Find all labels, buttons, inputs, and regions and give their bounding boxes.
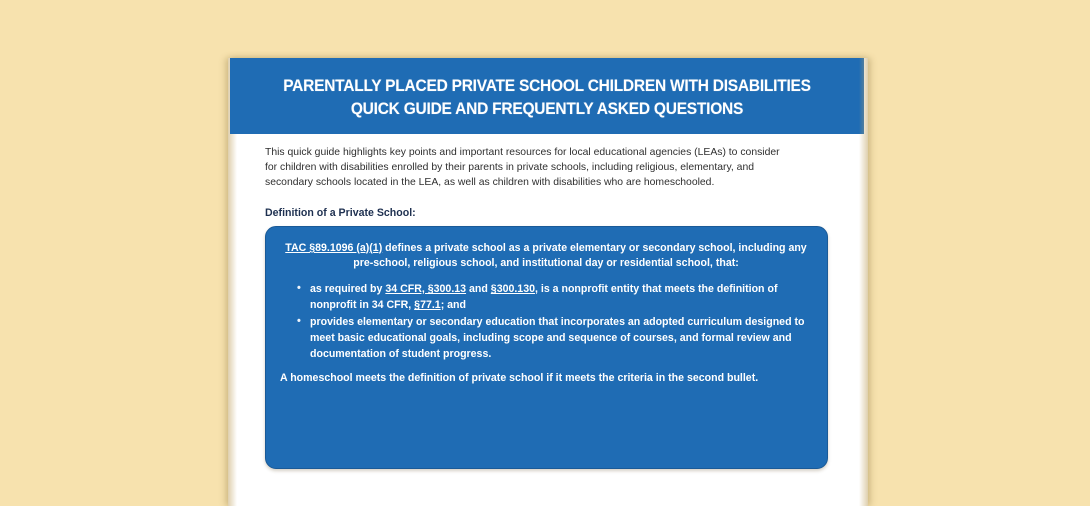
citation-link[interactable]: §77.1: [414, 299, 441, 311]
citation-link[interactable]: 34 CFR, §300.13: [385, 283, 466, 295]
list-item: provides elementary or secondary educati…: [310, 314, 809, 362]
private-school-definition-callout: TAC §89.1096 (a)(1) defines a private sc…: [265, 226, 828, 469]
bullet-text: as required by: [310, 283, 385, 295]
citation-link[interactable]: §300.130: [491, 283, 535, 295]
callout-lead-text: defines a private school as a private el…: [353, 242, 807, 270]
bullet-text: provides elementary or secondary educati…: [310, 316, 805, 360]
bullet-text: ; and: [441, 299, 466, 311]
document-page: PARENTALLY PLACED PRIVATE SCHOOL CHILDRE…: [228, 58, 868, 506]
callout-bullet-list: as required by 34 CFR, §300.13 and §300.…: [279, 281, 813, 362]
tac-89-1096-link[interactable]: TAC §89.1096 (a)(1): [285, 242, 382, 254]
definition-heading: Definition of a Private School:: [265, 207, 838, 219]
document-body: This quick guide highlights key points a…: [228, 134, 868, 506]
bullet-text: and: [466, 283, 491, 295]
document-title-banner: PARENTALLY PLACED PRIVATE SCHOOL CHILDRE…: [230, 58, 864, 134]
page-title: PARENTALLY PLACED PRIVATE SCHOOL CHILDRE…: [266, 75, 828, 122]
callout-lead-paragraph: TAC §89.1096 (a)(1) defines a private sc…: [282, 241, 810, 272]
callout-closing-paragraph: A homeschool meets the definition of pri…: [280, 370, 811, 386]
list-item: as required by 34 CFR, §300.13 and §300.…: [310, 281, 809, 313]
intro-paragraph: This quick guide highlights key points a…: [265, 145, 792, 191]
